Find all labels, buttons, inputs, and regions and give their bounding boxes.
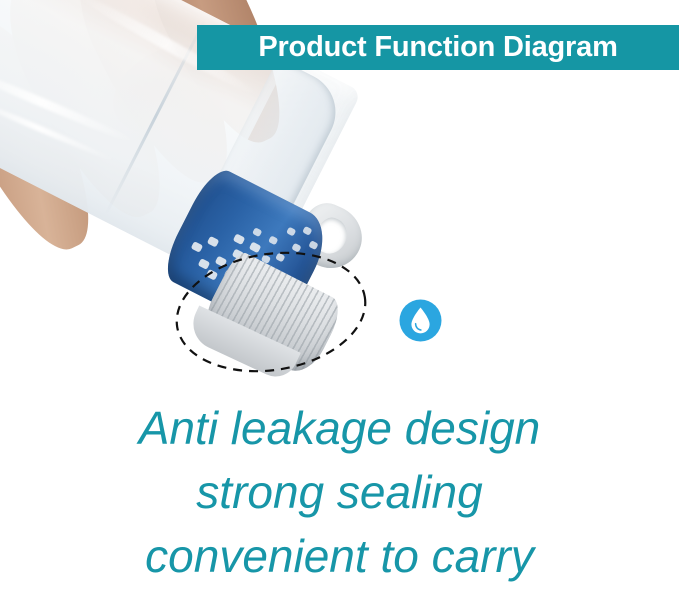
caption-line-3: convenient to carry bbox=[0, 524, 679, 588]
caption-line-2: strong sealing bbox=[0, 460, 679, 524]
water-drop-icon bbox=[399, 299, 442, 342]
caption-line-1: Anti leakage design bbox=[0, 396, 679, 460]
product-function-diagram-page: Product Function Diagram Anti leakage de… bbox=[0, 0, 679, 591]
caption-block: Anti leakage design strong sealing conve… bbox=[0, 396, 679, 588]
header-banner: Product Function Diagram bbox=[197, 25, 679, 70]
page-title: Product Function Diagram bbox=[258, 31, 617, 64]
